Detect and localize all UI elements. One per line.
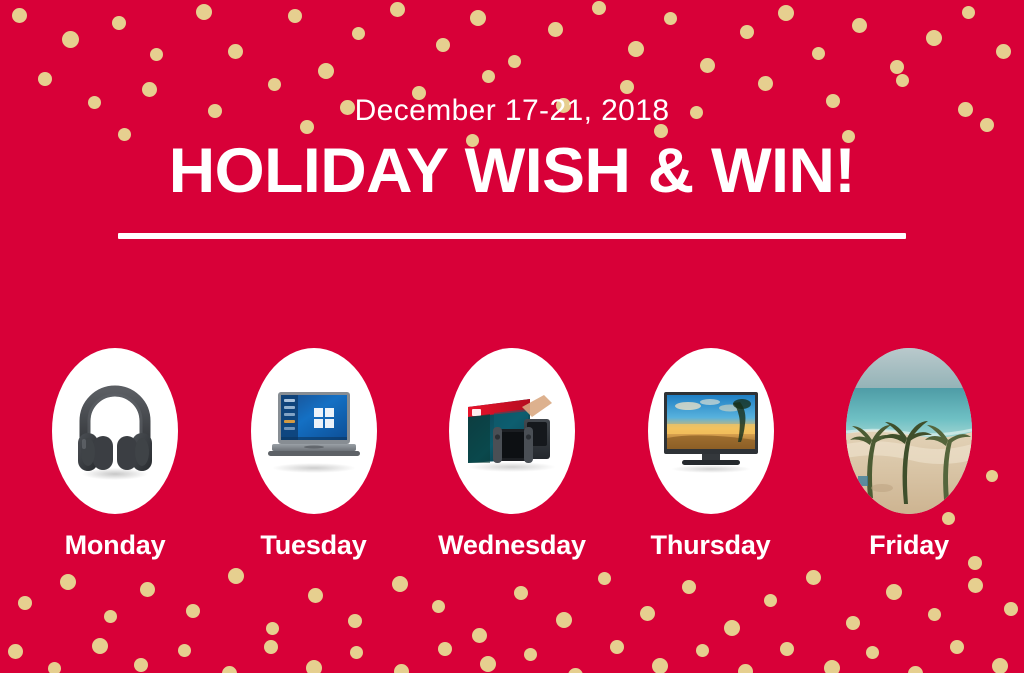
- prize-item-monday[interactable]: Monday: [30, 348, 200, 561]
- confetti-dot: [824, 660, 840, 673]
- prize-circle-thursday: [648, 348, 774, 514]
- header-block: December 17-21, 2018 HOLIDAY WISH & WIN!: [0, 0, 1024, 206]
- confetti-dot: [92, 638, 108, 654]
- confetti-dot: [178, 644, 191, 657]
- promotion-headline: HOLIDAY WISH & WIN!: [0, 136, 1024, 206]
- prize-item-tuesday[interactable]: Tuesday: [229, 348, 399, 561]
- confetti-dot: [472, 628, 487, 643]
- prize-circle-tuesday: [251, 348, 377, 514]
- confetti-dot: [610, 640, 624, 654]
- television-icon: [658, 388, 764, 474]
- prize-circle-wednesday: [449, 348, 575, 514]
- confetti-dot: [968, 578, 983, 593]
- confetti-dot: [992, 658, 1008, 673]
- prize-label-monday: Monday: [65, 530, 166, 561]
- confetti-dot: [264, 640, 278, 654]
- confetti-dot: [640, 606, 655, 621]
- confetti-dot: [266, 622, 279, 635]
- confetti-dot: [104, 610, 117, 623]
- confetti-dot: [886, 584, 902, 600]
- confetti-dot: [780, 642, 794, 656]
- prize-circle-monday: [52, 348, 178, 514]
- confetti-dot: [764, 594, 777, 607]
- confetti-dot: [696, 644, 709, 657]
- daily-prize-row: Monday: [0, 348, 1024, 561]
- confetti-dot: [682, 580, 696, 594]
- confetti-dot: [350, 646, 363, 659]
- beach-vacation-icon: [846, 348, 972, 514]
- confetti-dot: [480, 656, 496, 672]
- confetti-dot: [48, 662, 61, 673]
- prize-label-tuesday: Tuesday: [260, 530, 366, 561]
- confetti-dot: [846, 616, 860, 630]
- confetti-dot: [348, 614, 362, 628]
- confetti-dot: [928, 608, 941, 621]
- confetti-dot: [806, 570, 821, 585]
- prize-item-thursday[interactable]: Thursday: [626, 348, 796, 561]
- confetti-dot: [568, 668, 583, 673]
- confetti-dot: [228, 568, 244, 584]
- confetti-dot: [18, 596, 32, 610]
- promotional-banner: December 17-21, 2018 HOLIDAY WISH & WIN!: [0, 0, 1024, 673]
- prize-label-thursday: Thursday: [651, 530, 771, 561]
- confetti-dot: [308, 588, 323, 603]
- laptop-icon: [262, 388, 366, 474]
- headphones-icon: [69, 381, 161, 481]
- confetti-dot: [8, 644, 23, 659]
- confetti-dot: [514, 586, 528, 600]
- confetti-dot: [738, 664, 753, 673]
- confetti-dot: [134, 658, 148, 672]
- prize-label-wednesday: Wednesday: [438, 530, 586, 561]
- promotion-date-range: December 17-21, 2018: [0, 94, 1024, 128]
- confetti-dot: [222, 666, 237, 673]
- confetti-dot: [556, 612, 572, 628]
- confetti-dot: [394, 664, 409, 673]
- confetti-dot: [438, 642, 452, 656]
- prize-label-friday: Friday: [869, 530, 949, 561]
- game-console-icon: [460, 389, 564, 473]
- confetti-dot: [950, 640, 964, 654]
- prize-circle-friday: [846, 348, 972, 514]
- confetti-dot: [60, 574, 76, 590]
- prize-item-wednesday[interactable]: Wednesday: [427, 348, 597, 561]
- confetti-dot: [306, 660, 322, 673]
- confetti-dot: [598, 572, 611, 585]
- confetti-dot: [140, 582, 155, 597]
- confetti-dot: [1004, 602, 1018, 616]
- header-divider-rule: [118, 233, 906, 239]
- confetti-dot: [432, 600, 445, 613]
- prize-item-friday[interactable]: Friday: [824, 348, 994, 561]
- confetti-dot: [652, 658, 668, 673]
- confetti-dot: [908, 666, 923, 673]
- confetti-dot: [724, 620, 740, 636]
- confetti-dot: [392, 576, 408, 592]
- confetti-dot: [186, 604, 200, 618]
- confetti-dot: [524, 648, 537, 661]
- confetti-dot: [866, 646, 879, 659]
